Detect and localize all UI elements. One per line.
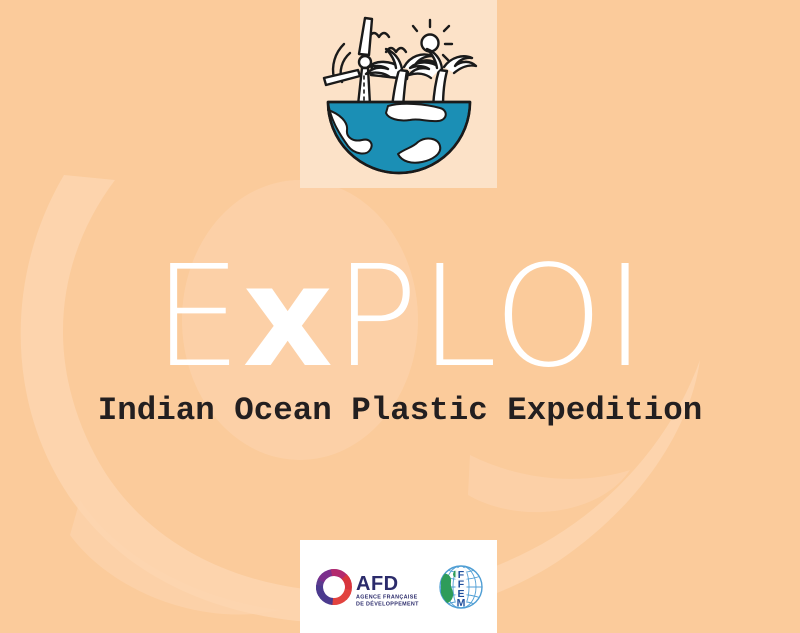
afd-tagline-line-2: DE DÉVELOPPEMENT bbox=[356, 599, 419, 607]
sun-icon bbox=[422, 35, 439, 52]
half-globe-icon bbox=[328, 102, 470, 173]
afd-tagline-line-1: AGENCE FRANÇAISE bbox=[356, 594, 418, 600]
afd-logo: AFD AGENCE FRANÇAISE DE DÉVELOPPEMENT bbox=[314, 566, 430, 608]
title-part-e: E bbox=[153, 236, 242, 399]
palm-tree-icon-1 bbox=[366, 49, 437, 107]
afd-ring-icon bbox=[314, 566, 355, 607]
bird-icon-1 bbox=[369, 33, 389, 37]
swirl-right-sweep bbox=[468, 455, 630, 512]
ffem-letter-4: M bbox=[456, 597, 465, 609]
swirl-lower-nub bbox=[70, 500, 280, 615]
island-globe-windturbine-illustration bbox=[314, 10, 484, 178]
title-part-ploi: PLOI bbox=[334, 236, 647, 399]
poster-canvas: ExPLOI Indian Ocean Plastic Expedition A… bbox=[0, 0, 800, 633]
page-title: ExPLOI bbox=[0, 248, 800, 388]
title-part-x: x bbox=[243, 236, 334, 399]
title-block: ExPLOI Indian Ocean Plastic Expedition bbox=[0, 248, 800, 429]
afd-acronym-text: AFD bbox=[356, 573, 399, 595]
logo-tile bbox=[300, 0, 497, 188]
page-subtitle: Indian Ocean Plastic Expedition bbox=[0, 392, 800, 429]
partner-logo-box: AFD AGENCE FRANÇAISE DE DÉVELOPPEMENT bbox=[300, 540, 497, 633]
ffem-logo: F F E M bbox=[438, 564, 484, 610]
